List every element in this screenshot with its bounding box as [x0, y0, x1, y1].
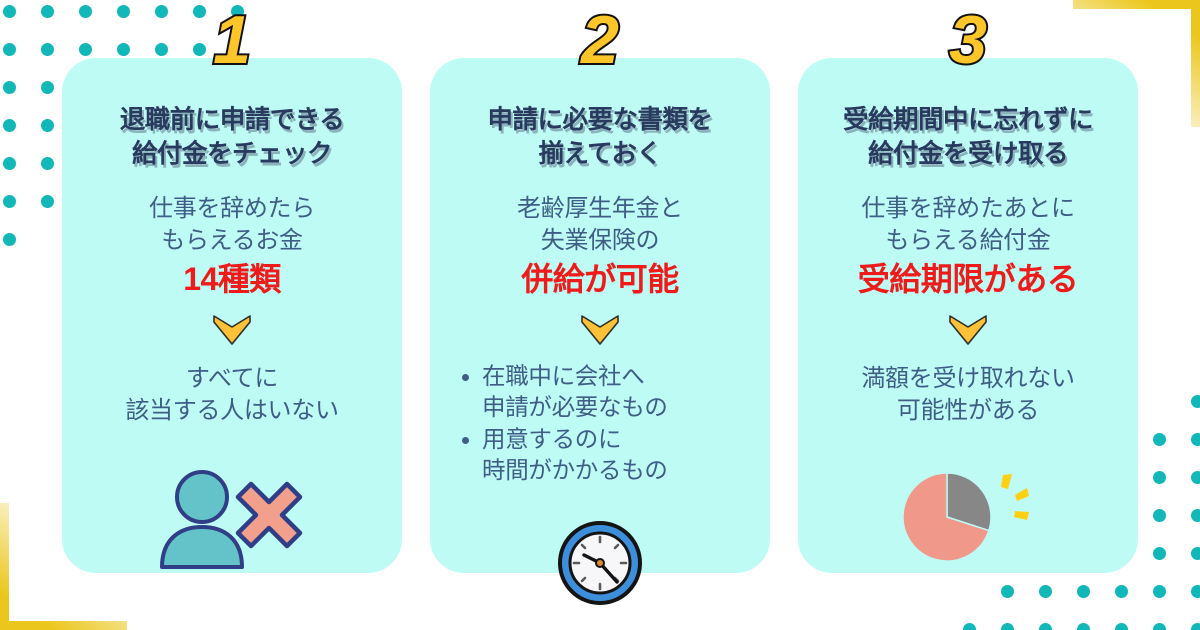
decor-dot	[41, 43, 54, 56]
decor-dot	[41, 5, 54, 18]
card-highlight-3: 受給期限がある	[808, 259, 1128, 299]
decor-dot	[1191, 395, 1200, 408]
decor-dot	[1191, 547, 1200, 560]
decor-dot	[1001, 585, 1014, 598]
decor-dot	[3, 157, 16, 170]
decor-dot	[3, 81, 16, 94]
step-card-3: 3 受給期間中に忘れずに 給付金を受け取る 仕事を辞めたあとに もらえる給付金 …	[798, 58, 1138, 573]
card-subtitle-3: 仕事を辞めたあとに もらえる給付金	[808, 193, 1128, 257]
decor-dot	[1077, 623, 1090, 630]
decor-dot	[3, 5, 16, 18]
down-chevron-icon	[798, 313, 1138, 347]
decor-dot	[1039, 585, 1052, 598]
down-chevron-icon	[62, 313, 402, 347]
decor-dot	[1115, 623, 1128, 630]
down-chevron-icon	[430, 313, 770, 347]
decor-dot	[1077, 585, 1090, 598]
step-number-2: 2	[430, 6, 770, 74]
list-item: 用意するのに 時間がかかるもの	[460, 424, 770, 485]
decor-dot	[41, 81, 54, 94]
person-with-x-icon	[62, 463, 402, 571]
step-number-3: 3	[798, 6, 1138, 74]
card-title-2: 申請に必要な書類を 揃えておく	[442, 104, 758, 171]
decor-dot	[1153, 547, 1166, 560]
decor-dot	[963, 623, 976, 630]
card-outcome-1: すべてに 該当する人はいない	[70, 363, 394, 427]
decor-dot	[1115, 585, 1128, 598]
decor-dot	[41, 119, 54, 132]
decor-dot	[1191, 433, 1200, 446]
decor-dot	[1153, 509, 1166, 522]
decor-dot	[1153, 471, 1166, 484]
card-highlight-2: 併給が可能	[440, 259, 760, 299]
decor-dot	[1191, 585, 1200, 598]
step-card-2: 2 申請に必要な書類を 揃えておく 老齢厚生年金と 失業保険の 併給が可能 在職…	[430, 58, 770, 573]
decor-dot	[41, 195, 54, 208]
card-title-3: 受給期間中に忘れずに 給付金を受け取る	[810, 104, 1126, 171]
card-subtitle-1: 仕事を辞めたら もらえるお金	[72, 193, 392, 257]
card-bullet-list-2: 在職中に会社へ 申請が必要なもの 用意するのに 時間がかかるもの	[460, 361, 770, 485]
decor-dot	[1153, 433, 1166, 446]
decor-dot	[41, 157, 54, 170]
decor-dot	[3, 195, 16, 208]
decor-dot	[1039, 623, 1052, 630]
clock-icon	[430, 517, 770, 609]
decor-dot	[1191, 623, 1200, 630]
decor-dot	[1153, 585, 1166, 598]
infographic-canvas: 1 退職前に申請できる 給付金をチェック 仕事を辞めたら もらえるお金 14種類…	[0, 0, 1200, 630]
decor-dot	[1191, 509, 1200, 522]
sparkle-icon	[1001, 474, 1029, 520]
decor-dot	[3, 233, 16, 246]
decor-dot	[3, 119, 16, 132]
card-outcome-3: 満額を受け取れない 可能性がある	[806, 363, 1130, 427]
decor-dot	[1153, 623, 1166, 630]
decor-dot	[3, 43, 16, 56]
step-number-1: 1	[62, 6, 402, 74]
list-item: 在職中に会社へ 申請が必要なもの	[460, 361, 770, 422]
card-subtitle-2: 老齢厚生年金と 失業保険の	[440, 193, 760, 257]
card-title-1: 退職前に申請できる 給付金をチェック	[74, 104, 390, 171]
decor-dot	[1001, 623, 1014, 630]
card-highlight-1: 14種類	[72, 259, 392, 299]
pie-chart-icon	[798, 469, 1138, 565]
decor-dot	[1191, 471, 1200, 484]
step-card-1: 1 退職前に申請できる 給付金をチェック 仕事を辞めたら もらえるお金 14種類…	[62, 58, 402, 573]
